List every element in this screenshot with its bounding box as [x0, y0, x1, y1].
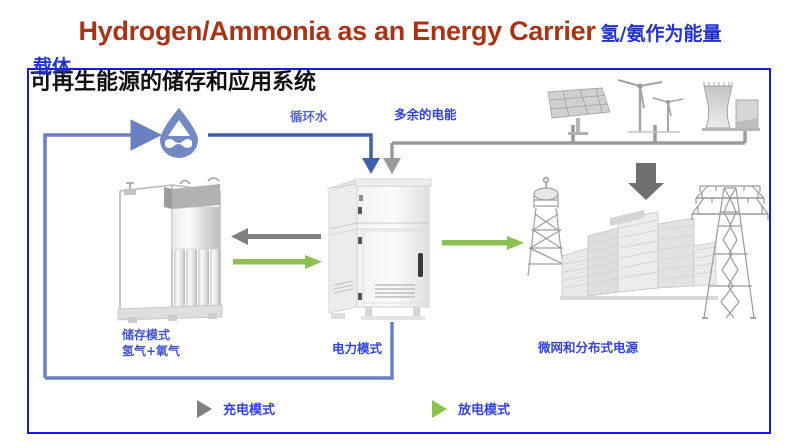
radio-tower-icon [528, 177, 564, 276]
triangle-right-icon-gray [197, 400, 212, 418]
legend-charge-mode: 充电模式 [197, 399, 275, 418]
label-power-mode: 电力模式 [332, 338, 382, 357]
city-grid-icons [518, 168, 776, 323]
label-circulating-water: 循环水 [290, 106, 328, 125]
wind-turbine-icon [618, 80, 683, 132]
power-plant-icon [702, 82, 760, 131]
panel-heading: 可再生能源的储存和应用系统 [30, 64, 316, 96]
title-chinese-line2: 载体 [33, 52, 71, 79]
label-microgrid: 微网和分布式电源 [538, 337, 638, 356]
renewable-sources-icons [540, 78, 775, 136]
solar-panel-icon [548, 88, 610, 135]
legend-discharge-mode: 放电模式 [432, 399, 510, 418]
slide-canvas: Hydrogen/Ammonia as an Energy Carrier氢/氨… [0, 0, 800, 448]
city-buildings-icon [560, 210, 718, 300]
title-chinese: 氢/氨作为能量 [601, 23, 722, 45]
power-cabinet-icon [325, 167, 433, 322]
triangle-right-icon-green [432, 400, 447, 418]
label-storage-mode-line1: 储存模式 [122, 327, 180, 343]
label-storage-gases: 氢气+氧气 [122, 343, 180, 359]
slide-title: Hydrogen/Ammonia as an Energy Carrier氢/氨… [0, 16, 800, 60]
gas-cylinder-rack-icon [112, 175, 228, 323]
label-excess-electricity: 多余的电能 [394, 104, 457, 123]
label-storage-mode: 储存模式 氢气+氧气 [122, 327, 180, 359]
title-english: Hydrogen/Ammonia as an Energy Carrier [78, 16, 595, 46]
legend-charge-label: 充电模式 [223, 399, 275, 418]
water-drop-icon [156, 106, 202, 158]
legend-discharge-label: 放电模式 [458, 399, 510, 418]
